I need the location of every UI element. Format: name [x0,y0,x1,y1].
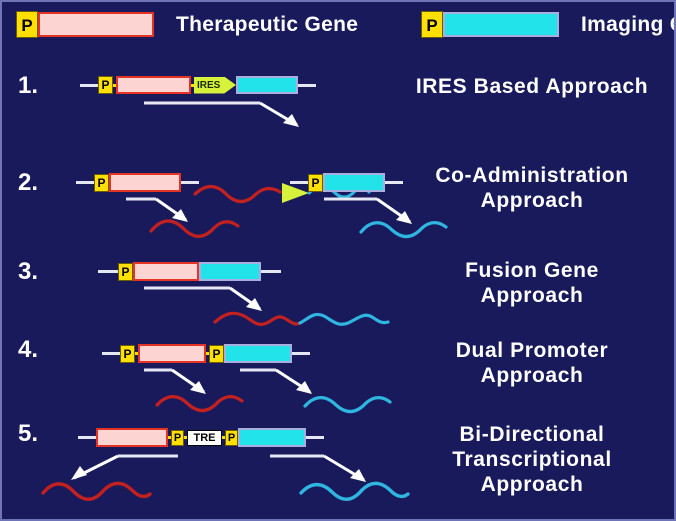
gene-construct: P IRES [80,76,316,94]
therapeutic-gene-box [116,76,191,94]
approach-label: IRES Based Approach [396,74,668,99]
row-number: 2. [18,169,38,197]
transcript-imaging [302,390,412,416]
dna-backbone-left [102,352,120,355]
gene-construct: P P [102,344,310,363]
promoter-icon-right: P [225,430,238,446]
row-dual-promoter: 4. P P Dual Promoter Approach [2,330,676,414]
imaging-gene-box [238,428,306,447]
row-bi-directional: 5. P TRE P Bi-Dir [2,414,676,519]
promoter-icon: P [94,174,109,192]
approach-label: Fusion Gene Approach [396,258,668,308]
legend-label-imaging: Imaging Gene [581,13,676,37]
imaging-gene-box [236,76,298,94]
therapeutic-gene-box [138,344,206,363]
row-number: 1. [18,72,38,100]
transcript-imaging [358,215,468,241]
dna-backbone-right [261,270,281,273]
promoter-icon: P [16,11,38,38]
dna-backbone-right [298,84,316,87]
tre-element: TRE [187,430,222,446]
approach-label: Dual Promoter Approach [396,338,668,388]
transcript-therapeutic [154,390,264,416]
therapeutic-gene-box [109,173,181,192]
transcript-fusion [212,306,392,332]
gene-construct: P TRE P [78,428,324,447]
approach-label: Bi-Directional Transcriptional Approach [396,422,668,497]
therapeutic-gene-box [133,262,199,281]
gene-construct-imaging: P [290,173,403,192]
promoter-icon: P [118,263,133,281]
dna-backbone-left [78,436,96,439]
promoter-icon: P [421,11,443,38]
row-fusion-gene: 3. P Fusion Gene Approach [2,250,676,328]
legend: P Therapeutic Gene P Imaging Gene [2,2,676,48]
imaging-gene-box [323,173,385,192]
row-co-administration: 2. P P Co-Administr [2,157,676,252]
imaging-gene-swatch [443,12,559,37]
row-ires-based: 1. P IRES IRES Based Approach [2,62,676,152]
promoter-icon-left: P [171,430,184,446]
ires-element: IRES [194,77,236,94]
transcript-therapeutic [40,476,170,504]
gene-construct: P [98,262,281,281]
promoter-icon: P [308,174,323,192]
row-number: 3. [18,258,38,286]
therapeutic-gene-box [96,428,168,447]
row-number: 4. [18,336,38,364]
legend-label-therapeutic: Therapeutic Gene [176,13,358,37]
row-number: 5. [18,420,38,448]
linker [191,84,194,87]
transcript-therapeutic [148,215,258,241]
transcription-arrow [142,98,322,132]
imaging-gene-box [199,262,261,281]
dna-backbone-left [80,84,98,87]
therapeutic-gene-swatch [38,12,154,37]
dna-backbone-left [98,270,118,273]
promoter-icon-left: P [120,345,135,363]
gene-construct-therapeutic: P [76,173,199,192]
promoter-icon: P [98,76,113,94]
dna-backbone-left [76,181,94,184]
legend-item-therapeutic: P Therapeutic Gene [16,11,358,38]
promoter-icon-right: P [209,345,224,363]
legend-item-imaging: P Imaging Gene [421,11,676,38]
dna-backbone-right [292,352,310,355]
approach-label: Co-Administration Approach [396,163,668,213]
diagram-canvas: P Therapeutic Gene P Imaging Gene 1. P I… [0,0,676,521]
dna-backbone-left [290,181,308,184]
dna-backbone-right [306,436,324,439]
dna-backbone-right [181,181,199,184]
imaging-gene-box [224,344,292,363]
